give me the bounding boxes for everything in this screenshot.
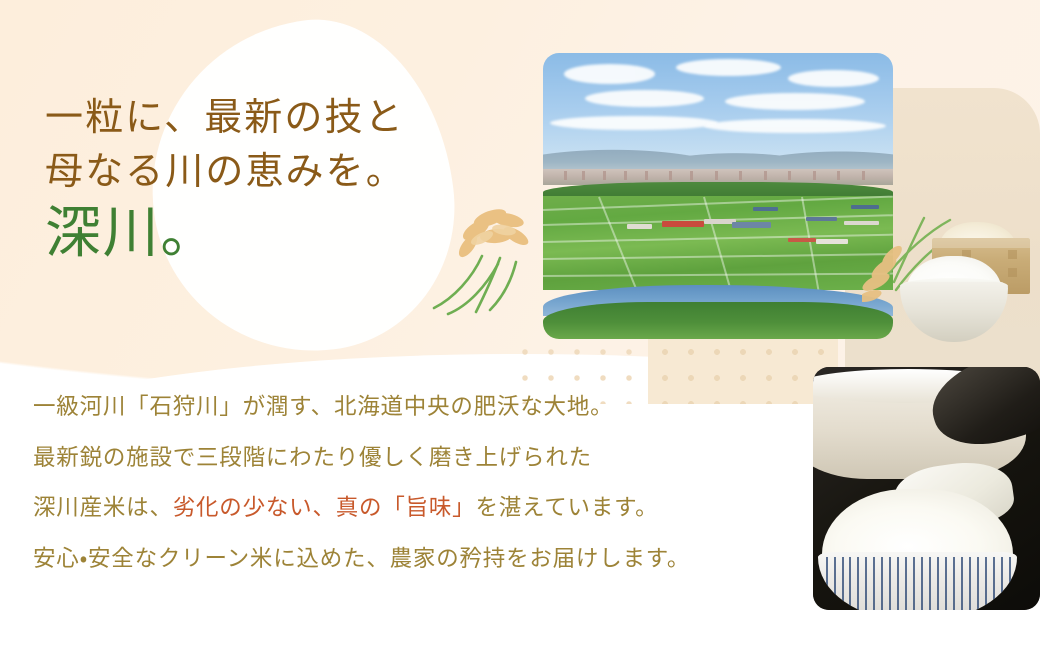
body-copy-block: 一級河川「石狩川」が潤す、北海道中央の肥沃な大地。 最新鋭の施設で三段階にわたり… [33, 396, 690, 570]
striped-rice-bowl [818, 552, 1018, 610]
brand-name: 深川。 [45, 204, 406, 266]
headline-line-2: 母なる川の恵みを。 [45, 146, 406, 200]
farm-building [851, 205, 879, 209]
foreground-trees [543, 302, 893, 339]
farm-building [788, 238, 816, 243]
body-line-1: 一級河川「石狩川」が潤す、北海道中央の肥沃な大地。 [33, 396, 690, 419]
promo-banner: 一粒に、最新の技と 母なる川の恵みを。 深川。 [0, 0, 1040, 646]
body-line-3-post: を湛えています。 [475, 495, 658, 520]
body-line-4: 安心・安全なクリーン米に込めた、農家の矜持をお届けします。 [33, 548, 690, 571]
cooked-rice-bowl-photo [813, 367, 1040, 610]
body-line-2: 最新鋭の施設で三段階にわたり優しく磨き上げられた [33, 447, 690, 470]
white-rice-bowl-illustration [900, 256, 1008, 342]
rice-stalk-icon [424, 186, 540, 318]
cloud [704, 119, 886, 133]
body-line-3-highlight: 劣化の少ない、真の「旨味」 [173, 495, 476, 520]
headline-line-1: 一粒に、最新の技と [45, 92, 406, 146]
aerial-rice-fields-and-river-photo [543, 53, 893, 339]
body-line-3-pre: 深川産米は、 [33, 495, 173, 520]
farm-building [753, 207, 778, 211]
bowl-cup [900, 282, 1008, 342]
farm-building [732, 222, 771, 228]
farm-building [806, 217, 838, 222]
farm-building [662, 221, 704, 228]
headline-block: 一粒に、最新の技と 母なる川の恵みを。 深川。 [45, 92, 406, 266]
polka-dot-pattern-dark [648, 336, 838, 404]
farm-building [627, 224, 652, 229]
farm-building [816, 239, 848, 244]
body-line-3: 深川産米は、劣化の少ない、真の「旨味」を湛えています。 [33, 497, 690, 520]
rice-paddies [543, 196, 893, 290]
farm-building [704, 219, 736, 225]
cloud [676, 59, 781, 76]
